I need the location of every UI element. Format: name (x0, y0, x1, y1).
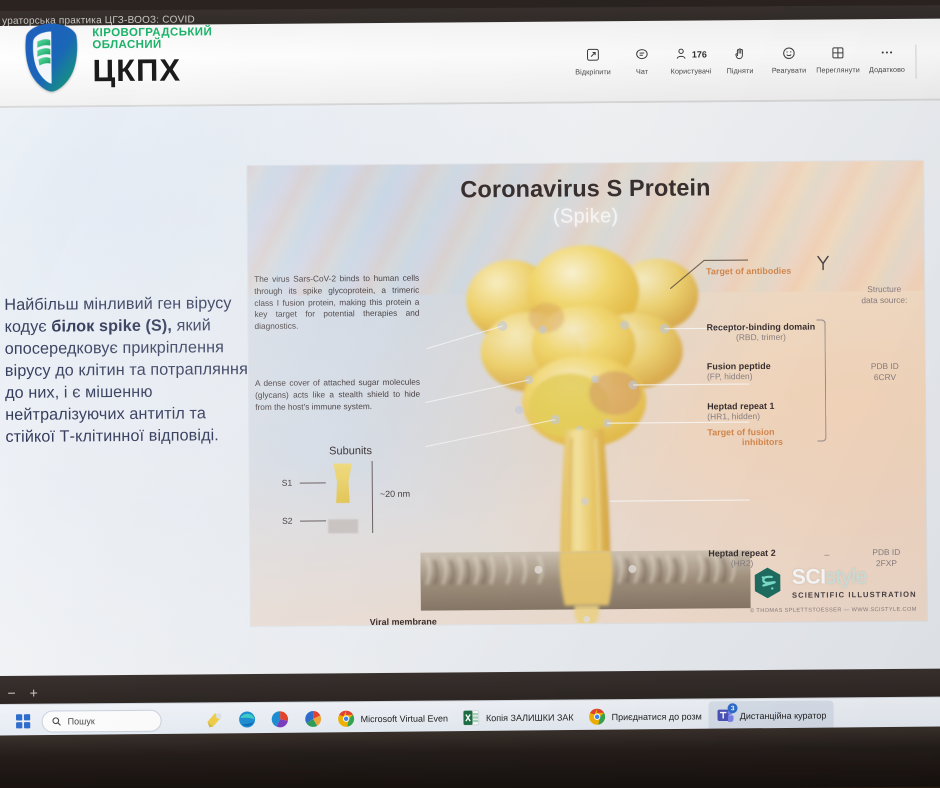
emoji-icon (781, 44, 796, 63)
scistyle-text-block: SCIstyle SCIENTIFIC ILLUSTRATION (792, 565, 917, 600)
annotation-rbd: Receptor-binding domain (RBD, trimer) (707, 322, 816, 343)
annotation-rbd-sub: (RBD, trimer) (707, 332, 816, 343)
teams-notification-badge: 3 (728, 703, 738, 713)
toolbar-button-view[interactable]: Переглянути (813, 43, 862, 74)
subunits-legend-title: Subunits (275, 445, 425, 458)
taskbar-label-join-meeting: Приєднатися до розм (612, 711, 702, 722)
subunit-s1-shape (330, 463, 356, 503)
taskbar-label-excel: Копія ЗАЛИШКИ ЗАК (486, 712, 574, 723)
annotation-antibodies-label: Target of antibodies (706, 266, 791, 277)
annotation-membrane-main: Viral membrane (287, 617, 437, 626)
toolbar-button-raise-hand[interactable]: Підняти (715, 44, 764, 75)
chrome-icon (588, 707, 607, 726)
excel-icon (462, 708, 481, 727)
organisation-logo: КІРОВОГРАДСЬКИЙ ОБЛАСНИЙ ЦКПХ (20, 20, 212, 94)
chat-icon (634, 45, 649, 64)
toolbar-button-unpin[interactable]: Відкріпити (568, 45, 617, 76)
people-icon: 176 (675, 44, 707, 63)
photographed-monitor: ураторська практика ЦГЗ-ВООЗ: COVID (0, 0, 940, 788)
annotation-hr2-main: Heptad repeat 2 (708, 548, 775, 559)
data-source-no-data: no data (model) (849, 623, 925, 626)
spike-protein-artwork (418, 232, 751, 625)
illustration-paragraph-2: A dense cover of attached sugar molecule… (255, 377, 420, 414)
search-icon (52, 716, 62, 726)
subunits-legend: Subunits S1 S2 ~20 nm (275, 445, 425, 458)
subunit-s2-label: S2 (282, 516, 292, 526)
pdb-value-1: 6CRV (847, 372, 923, 384)
chrome-icon (337, 709, 356, 728)
taskbar-label-virtual-event: Microsoft Virtual Even (361, 713, 448, 724)
dash-hr2: – (824, 549, 829, 559)
subunit-s2-shape (328, 519, 358, 533)
annotation-hr1-sub: (HR1, hidden) (707, 411, 774, 422)
raise-hand-icon (732, 44, 747, 63)
taskbar-app-edge[interactable] (231, 704, 264, 734)
pdb-bracket (817, 319, 827, 441)
nodata-line-1: no data (849, 623, 925, 626)
annotation-viral-membrane: Viral membrane (lipid bilayer) (287, 617, 437, 626)
office-icon (271, 710, 290, 729)
taskbar-app-paint[interactable] (198, 705, 231, 735)
toolbar-divider (915, 45, 916, 79)
annotation-fusion-inhibitors: Target of fusion inhibitors (707, 427, 817, 448)
dash-tm: – (825, 625, 830, 626)
pdb-label-2: PDB ID (848, 547, 924, 559)
toolbar-label-raise-hand: Підняти (727, 66, 754, 75)
toolbar-label-react: Реагувати (772, 66, 807, 75)
taskbar-search-input[interactable]: Пошук (42, 709, 162, 732)
windows-logo-icon (14, 713, 31, 730)
store-icon (304, 709, 323, 728)
antibody-icon (816, 255, 830, 270)
scistyle-copyright: © THOMAS SPLETTSTOESSER — WWW.SCISTYLE.C… (750, 607, 917, 614)
taskbar-app-teams[interactable]: 3 Дистанційна куратор (709, 700, 834, 731)
taskbar-app-join-meeting[interactable]: Приєднатися до розм (581, 701, 709, 732)
data-source-header-line1: Structure (846, 284, 922, 296)
data-source-6crv: PDB ID 6CRV (847, 361, 923, 384)
grid-view-icon (830, 43, 845, 62)
annotation-fp-main: Fusion peptide (707, 361, 771, 372)
subunit-s1-leader (300, 482, 326, 483)
annotation-target-of-antibodies: Target of antibodies (706, 266, 791, 277)
pdb-label-1: PDB ID (847, 361, 923, 373)
org-abbreviation: ЦКПХ (92, 54, 212, 86)
caption-bold: білок spike (S), (51, 317, 172, 336)
coronavirus-spike-illustration: Coronavirus S Protein (Spike) The virus … (247, 161, 927, 626)
presentation-stage: Найбільш мінливий ген вірусу кодує білок… (0, 101, 940, 676)
annotation-rbd-main: Receptor-binding domain (707, 322, 816, 333)
zoom-out-button[interactable]: − (7, 686, 15, 700)
scistyle-logo-icon (751, 566, 785, 600)
taskbar-app-store[interactable] (297, 704, 330, 734)
annotation-hr1-main: Heptad repeat 1 (707, 401, 774, 412)
scale-bar (372, 461, 374, 533)
organisation-name: КІРОВОГРАДСЬКИЙ ОБЛАСНИЙ ЦКПХ (92, 27, 212, 86)
taskbar-app-virtual-event[interactable]: Microsoft Virtual Even (330, 703, 456, 734)
participant-count: 176 (692, 49, 707, 59)
scale-bar-label: ~20 nm (380, 489, 410, 499)
pop-out-icon (585, 45, 600, 64)
monitor-bezel-bottom (0, 726, 940, 788)
toolbar-button-participants[interactable]: 176 Користувачі (666, 44, 715, 75)
toolbar-label-chat: Чат (636, 67, 648, 76)
scistyle-tagline: SCIENTIFIC ILLUSTRATION (792, 590, 917, 600)
meeting-toolbar: Відкріпити Чат 176 (568, 43, 940, 82)
annotation-fusion-inhibitors-2: inhibitors (707, 437, 817, 448)
shield-icon (20, 21, 83, 93)
more-icon (878, 43, 895, 62)
teams-icon: 3 (716, 706, 735, 725)
taskbar-search-placeholder: Пошук (68, 716, 95, 726)
org-line-2: ОБЛАСНИЙ (92, 39, 212, 51)
annotation-fp-sub: (FP, hidden) (707, 371, 771, 382)
paint-icon (205, 710, 224, 729)
illustration-title: Coronavirus S Protein (247, 173, 923, 205)
zoom-in-button[interactable]: + (30, 686, 38, 700)
toolbar-button-chat[interactable]: Чат (617, 45, 666, 76)
scistyle-brand-light: style (826, 565, 867, 588)
taskbar-app-office[interactable] (264, 704, 297, 734)
annotation-tm-main: Transmembrane domain (709, 624, 813, 626)
subunit-s2-leader (300, 520, 326, 521)
toolbar-label-more: Додатково (869, 65, 905, 74)
caption-part-2: який опосередковує прикріплення вірусу д… (5, 316, 248, 446)
taskbar-label-teams: Дистанційна куратор (740, 710, 827, 721)
edge-icon (238, 710, 257, 729)
annotation-heptad-repeat-1: Heptad repeat 1 (HR1, hidden) (707, 401, 774, 422)
toolbar-label-participants: Користувачі (671, 66, 712, 75)
illustration-subtitle: (Spike) (248, 203, 924, 231)
toolbar-label-view: Переглянути (816, 65, 860, 74)
toolbar-button-more[interactable]: Додатково (862, 43, 911, 74)
scistyle-wordmark: SCIstyle (792, 565, 917, 590)
annotation-fusion-peptide: Fusion peptide (FP, hidden) (707, 361, 771, 382)
toolbar-button-react[interactable]: Реагувати (764, 44, 813, 75)
toolbar-label-unpin: Відкріпити (575, 67, 611, 76)
monitor-screen: ураторська практика ЦГЗ-ВООЗ: COVID (0, 0, 940, 738)
scistyle-watermark: SCIstyle SCIENTIFIC ILLUSTRATION (751, 565, 917, 600)
subunit-s1-label: S1 (282, 478, 292, 488)
data-source-header-line2: data source: (846, 295, 922, 307)
illustration-paragraph-1: The virus Sars-CoV-2 binds to human cell… (254, 273, 419, 333)
annotation-transmembrane-domain: Transmembrane domain (TM) (709, 624, 813, 626)
slide-caption-text: Найбільш мінливий ген вірусу кодує білок… (4, 292, 249, 448)
taskbar-app-excel[interactable]: Копія ЗАЛИШКИ ЗАК (455, 702, 581, 733)
scistyle-brand-bold: SCI (792, 565, 826, 588)
data-source-header: Structure data source: (846, 284, 922, 307)
start-button[interactable] (6, 713, 40, 730)
